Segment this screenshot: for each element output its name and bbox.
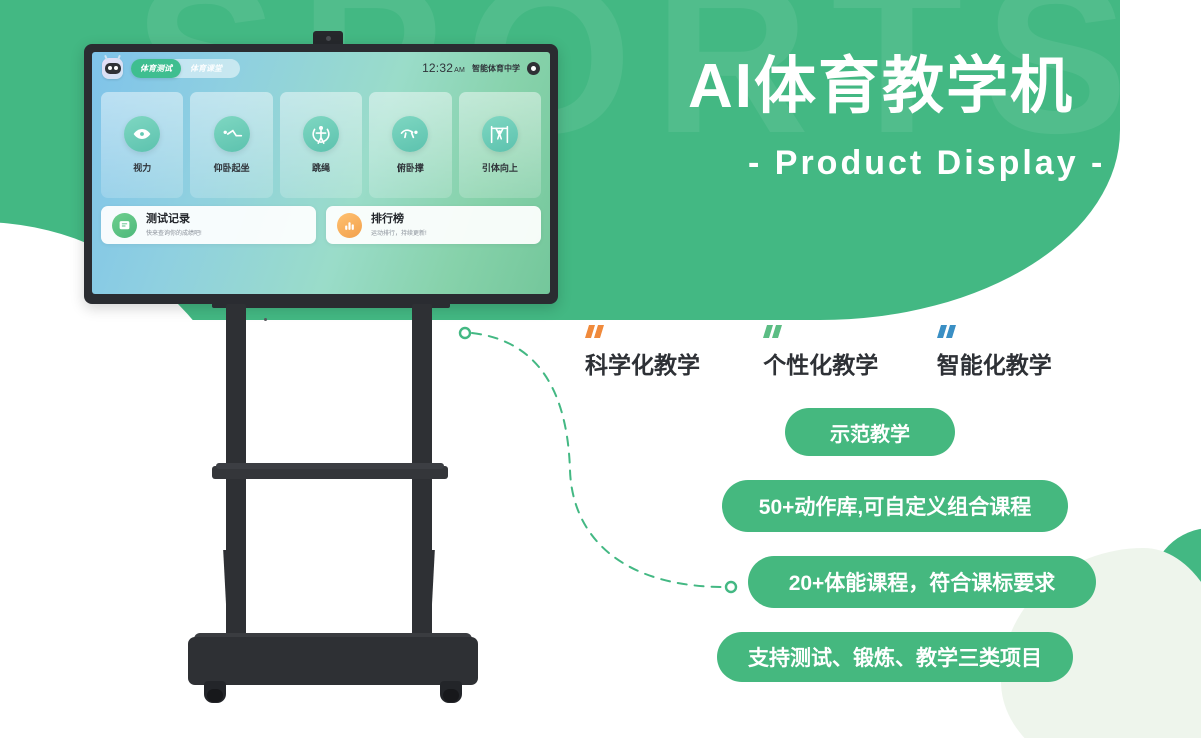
pushup-icon (392, 116, 428, 152)
app-label: 跳绳 (312, 161, 330, 174)
app-grid: 视力 仰卧起坐 (101, 92, 541, 198)
screen-status-area: 12:32AM 智能体育中学 (422, 61, 540, 75)
robot-avatar-icon (102, 58, 123, 79)
stand-base (188, 637, 478, 685)
gear-icon[interactable] (527, 62, 540, 75)
app-label: 引体向上 (482, 161, 518, 174)
pill-demo-teaching[interactable]: 示范教学 (785, 408, 955, 456)
card-title: 测试记录 (146, 213, 202, 226)
tab-sports-test[interactable]: 体育测试 (131, 59, 181, 78)
quote-mark-icon (937, 325, 959, 338)
device-screen: 体育测试 体育课堂 12:32AM 智能体育中学 (92, 52, 550, 294)
camera-module-icon (313, 31, 343, 45)
feature-title: 科学化教学 (585, 346, 763, 380)
clock-time: 12:32 (422, 61, 453, 75)
app-card-pullup[interactable]: 引体向上 (459, 92, 541, 198)
card-text: 测试记录 快来查询你的成绩吧! (146, 213, 202, 237)
screen-topbar: 体育测试 体育课堂 12:32AM 智能体育中学 (92, 52, 550, 84)
card-test-records[interactable]: 测试记录 快来查询你的成绩吧! (101, 206, 316, 244)
app-card-jumprope[interactable]: 跳绳 (280, 92, 362, 198)
pill-action-library[interactable]: 50+动作库,可自定义组合课程 (722, 480, 1068, 532)
screen-tab-group[interactable]: 体育测试 体育课堂 (131, 59, 240, 78)
feature-title: 个性化教学 (763, 346, 937, 380)
quote-mark-icon (763, 325, 785, 338)
feature-personalized: 个性化教学 (763, 325, 937, 380)
shortcut-card-row: 测试记录 快来查询你的成绩吧! 排行榜 运动排行，持续更新! (101, 206, 541, 244)
clock: 12:32AM (422, 61, 465, 75)
card-leaderboard[interactable]: 排行榜 运动排行，持续更新! (326, 206, 541, 244)
tab-sports-class[interactable]: 体育课堂 (181, 59, 231, 78)
app-card-pushup[interactable]: 俯卧撑 (369, 92, 451, 198)
pullup-icon (482, 116, 518, 152)
eye-icon (124, 116, 160, 152)
feature-intelligent: 智能化教学 (937, 325, 1115, 380)
school-name: 智能体育中学 (472, 63, 520, 74)
quote-mark-icon (585, 325, 607, 338)
interactive-display-device: 体育测试 体育课堂 12:32AM 智能体育中学 (84, 44, 558, 304)
caster-wheel-left (204, 681, 226, 703)
jumprope-icon (303, 116, 339, 152)
caster-wheel-right (440, 681, 462, 703)
card-subtitle: 快来查询你的成绩吧! (146, 228, 202, 237)
page-subtitle: - Product Display - (748, 144, 1105, 183)
pill-three-categories[interactable]: 支持测试、锻炼、教学三类项目 (717, 632, 1073, 682)
poster-canvas: SPORTS AI体育教学机 - Product Display - 体育测试 … (0, 0, 1201, 738)
stand-shelf-top (216, 463, 444, 469)
page-title: AI体育教学机 (688, 56, 1074, 118)
card-text: 排行榜 运动排行，持续更新! (371, 213, 427, 237)
card-subtitle: 运动排行，持续更新! (371, 228, 427, 237)
app-card-vision[interactable]: 视力 (101, 92, 183, 198)
app-label: 俯卧撑 (397, 161, 424, 174)
situp-icon (214, 116, 250, 152)
card-title: 排行榜 (371, 213, 427, 226)
app-label: 视力 (133, 161, 151, 174)
app-label: 仰卧起坐 (214, 161, 250, 174)
feature-pill-list: 示范教学 50+动作库,可自定义组合课程 20+体能课程，符合课标要求 支持测试… (585, 408, 1115, 706)
feature-heading-row: 科学化教学 个性化教学 智能化教学 (585, 325, 1115, 380)
clock-ampm: AM (454, 67, 465, 74)
feature-scientific: 科学化教学 (585, 325, 763, 380)
records-icon (112, 213, 137, 238)
app-card-situp[interactable]: 仰卧起坐 (190, 92, 272, 198)
feature-title: 智能化教学 (937, 346, 1115, 380)
leaderboard-icon (337, 213, 362, 238)
pill-fitness-courses[interactable]: 20+体能课程，符合课标要求 (748, 556, 1096, 608)
